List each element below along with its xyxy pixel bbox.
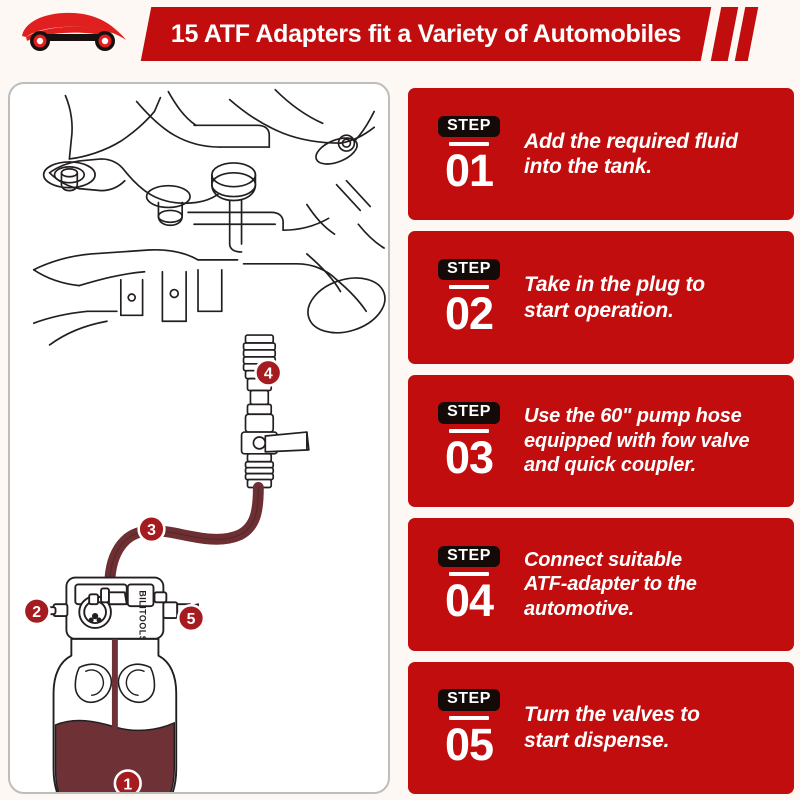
step-badge-03: STEP 03 [430,402,508,479]
step-text-line: automotive. [524,597,778,621]
callout-4: 4 [255,360,281,386]
step-word-label: STEP [438,546,500,567]
step-badge-05: STEP 05 [430,689,508,766]
step-number: 02 [445,291,493,336]
pump-head [48,578,198,639]
step-number: 05 [445,722,493,767]
banner-group: 15 ATF Adapters fit a Variety of Automob… [128,7,728,61]
step-word-label: STEP [438,116,500,137]
fluid-tank [54,639,177,792]
svg-text:1: 1 [123,776,132,792]
steps-list: STEP 01 Add the required fluid into the … [408,88,794,794]
atf-pump-illustration: BILITOOLS 1 2 3 [10,84,388,792]
svg-text:4: 4 [264,366,273,383]
step-text-line: Take in the plug to [524,272,778,298]
step-text-01: Add the required fluid into the tank. [508,129,778,180]
step-card-01[interactable]: STEP 01 Add the required fluid into the … [408,88,794,220]
step-card-04[interactable]: STEP 04 Connect suitable ATF-adapter to … [408,518,794,650]
step-text-line: start operation. [524,298,778,324]
banner-title: 15 ATF Adapters fit a Variety of Automob… [171,20,681,49]
callout-5: 5 [178,605,204,631]
step-word-label: STEP [438,689,500,710]
step-text-line: ATF-adapter to the [524,572,778,596]
step-card-02[interactable]: STEP 02 Take in the plug to start operat… [408,231,794,363]
step-text-line: Connect suitable [524,548,778,572]
step-text-line: Turn the valves to [524,702,778,728]
step-number: 01 [445,148,493,193]
step-text-line: into the tank. [524,154,778,180]
banner-main-bar: 15 ATF Adapters fit a Variety of Automob… [141,7,711,61]
step-text-line: equipped with fow valve [524,429,778,453]
step-word-label: STEP [438,402,500,423]
pump-hose [110,487,258,578]
step-card-03[interactable]: STEP 03 Use the 60" pump hose equipped w… [408,375,794,507]
step-card-05[interactable]: STEP 05 Turn the valves to start dispens… [408,662,794,794]
step-text-02: Take in the plug to start operation. [508,272,778,323]
step-text-05: Turn the valves to start dispense. [508,702,778,753]
step-number: 04 [445,578,493,623]
svg-text:2: 2 [32,604,41,621]
header-banner: 15 ATF Adapters fit a Variety of Automob… [0,0,800,68]
atf-pump-diagram-panel: BILITOOLS 1 2 3 [8,82,390,794]
banner-slash-2 [735,7,758,61]
ball-valve-handle [242,404,309,487]
step-badge-01: STEP 01 [430,116,508,193]
svg-text:3: 3 [147,522,156,539]
step-word-label: STEP [438,259,500,280]
step-text-line: and quick coupler. [524,453,778,477]
callout-2: 2 [24,598,50,624]
step-badge-04: STEP 04 [430,546,508,623]
transmission-line-art [34,90,388,345]
step-text-line: Use the 60" pump hose [524,404,778,428]
banner-slash-1 [711,7,738,61]
step-text-03: Use the 60" pump hose equipped with fow … [508,404,778,477]
step-text-line: start dispense. [524,728,778,754]
step-text-04: Connect suitable ATF-adapter to the auto… [508,548,778,621]
svg-text:5: 5 [187,611,196,628]
step-badge-02: STEP 02 [430,259,508,336]
car-logo-icon [14,6,132,62]
step-number: 03 [445,435,493,480]
callout-1: 1 [115,770,141,792]
step-text-line: Add the required fluid [524,129,778,155]
brand-text: BILITOOLS [138,590,148,642]
callout-3: 3 [139,516,165,542]
